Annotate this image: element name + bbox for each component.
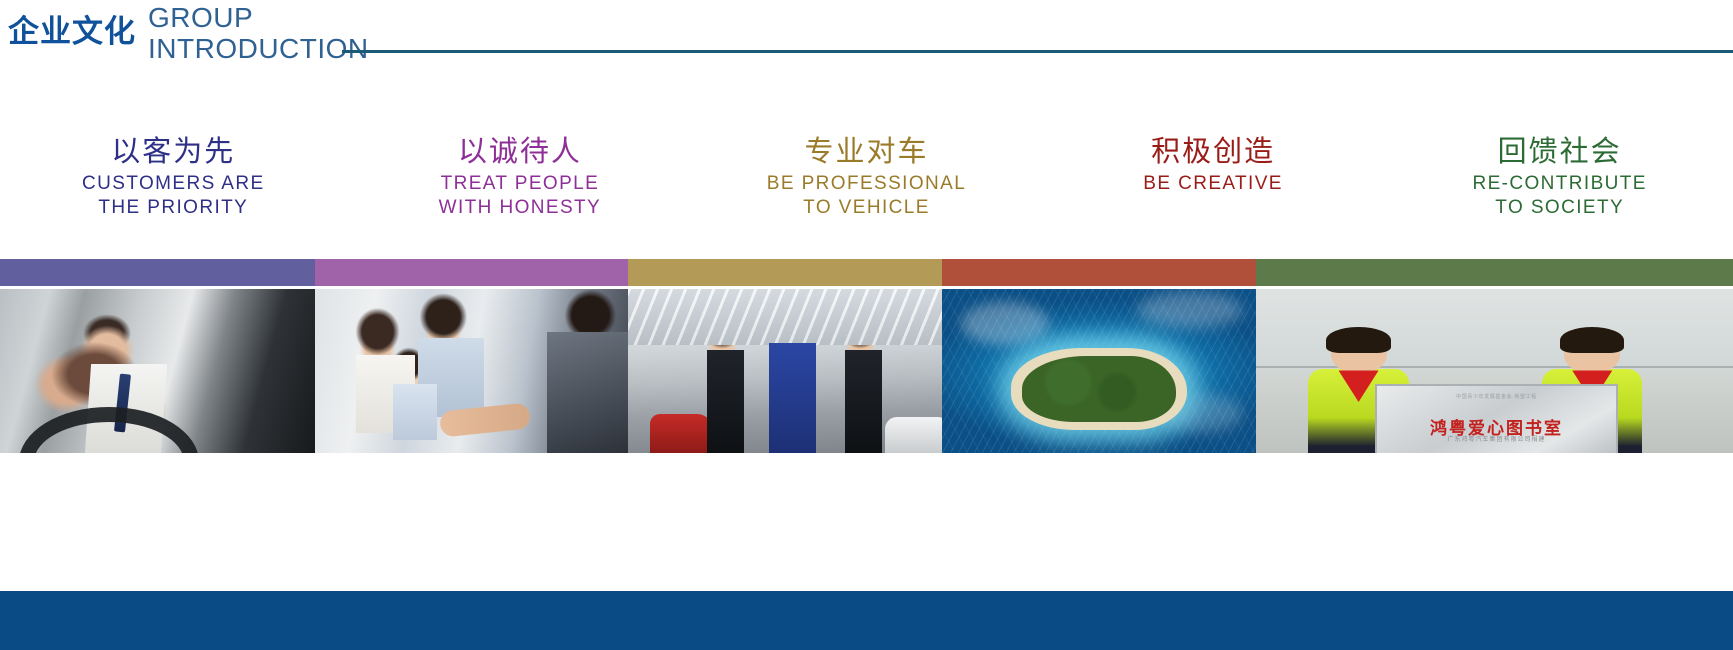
value-title-cn-5: 回馈社会: [1392, 132, 1727, 170]
value-title-cn-4: 积极创造: [1046, 132, 1381, 170]
color-bar-3: [628, 259, 942, 286]
value-subtitle-en-2-line1: TREAT PEOPLE: [353, 172, 688, 196]
value-subtitle-en-5-line2: TO SOCIETY: [1392, 196, 1727, 220]
photo-3-scene: [628, 289, 942, 453]
value-subtitle-en-2-line2: WITH HONESTY: [353, 196, 688, 220]
photo-4-cloud-top-left: [961, 302, 1049, 345]
photo-5-student-left-hair: [1326, 327, 1390, 354]
photo-couple-in-car: [0, 289, 315, 453]
photo-5-student-right-hair: [1560, 327, 1624, 354]
photo-3-technician-uniform: [769, 343, 816, 453]
page-title-en: GROUP INTRODUCTION: [148, 2, 369, 64]
photo-3-white-car: [885, 417, 942, 453]
color-bar-1: [0, 259, 315, 286]
value-title-cn-1: 以客为先: [6, 132, 341, 170]
value-column-text-5: 回馈社会 RE-CONTRIBUTE TO SOCIETY: [1386, 132, 1733, 252]
photo-dealership-staff: [628, 289, 942, 453]
value-photo-strip: 中国青少年发展基金会·希望工程 鸿粤爱心图书室 广东鸿粤汽车集团有限公司捐建: [0, 289, 1733, 453]
value-subtitle-en-1-line1: CUSTOMERS ARE: [6, 172, 341, 196]
photo-5-plaque-top-text: 中国青少年发展基金会·希望工程: [1387, 393, 1606, 400]
photo-2-child-shirt: [393, 384, 437, 440]
color-bar-2: [315, 259, 628, 286]
value-subtitle-en-4-line1: BE CREATIVE: [1046, 172, 1381, 196]
value-subtitle-en-5-line1: RE-CONTRIBUTE: [1392, 172, 1727, 196]
color-bar-4: [942, 259, 1256, 286]
page-header: 企业文化 GROUP INTRODUCTION: [0, 0, 1733, 70]
value-columns-text: 以客为先 CUSTOMERS ARE THE PRIORITY 以诚待人 TRE…: [0, 132, 1733, 252]
page-title-cn: 企业文化: [8, 17, 136, 48]
photo-2-scene: [315, 289, 628, 453]
value-title-cn-2: 以诚待人: [353, 132, 688, 170]
value-color-bars: [0, 259, 1733, 286]
photo-5-plaque-sub-text: 广东鸿粤汽车集团有限公司捐建: [1392, 434, 1602, 443]
value-column-text-4: 积极创造 BE CREATIVE: [1040, 132, 1387, 252]
photo-3-staff-right-suit: [845, 350, 883, 453]
value-subtitle-en-1-line2: THE PRIORITY: [6, 196, 341, 220]
value-subtitle-en-3-line2: TO VEHICLE: [699, 196, 1034, 220]
header-divider-rule: [342, 50, 1733, 53]
photo-students-with-plaque: 中国青少年发展基金会·希望工程 鸿粤爱心图书室 广东鸿粤汽车集团有限公司捐建: [1256, 289, 1733, 453]
value-subtitle-en-3-line1: BE PROFESSIONAL: [699, 172, 1034, 196]
photo-3-glass-roof: [628, 289, 942, 345]
page-title-en-line2: INTRODUCTION: [148, 33, 369, 64]
value-title-cn-3: 专业对车: [699, 132, 1034, 170]
page-title-en-line1: GROUP: [148, 2, 253, 33]
photo-1-steering-wheel: [19, 407, 199, 453]
photo-4-island-forest: [1022, 356, 1176, 422]
photo-family-handshake: [315, 289, 628, 453]
photo-2-salesman-suit: [547, 332, 628, 453]
photo-car-shaped-island: [942, 289, 1256, 453]
value-column-text-3: 专业对车 BE PROFESSIONAL TO VEHICLE: [693, 132, 1040, 252]
value-column-text-1: 以客为先 CUSTOMERS ARE THE PRIORITY: [0, 132, 347, 252]
color-bar-5: [1256, 259, 1733, 286]
photo-5-scene: 中国青少年发展基金会·希望工程 鸿粤爱心图书室 广东鸿粤汽车集团有限公司捐建: [1256, 289, 1733, 453]
photo-1-scene: [0, 289, 315, 453]
photo-5-donation-plaque: 中国青少年发展基金会·希望工程 鸿粤爱心图书室 广东鸿粤汽车集团有限公司捐建: [1375, 384, 1618, 453]
value-column-text-2: 以诚待人 TREAT PEOPLE WITH HONESTY: [347, 132, 694, 252]
photo-3-staff-left-suit: [707, 350, 745, 453]
footer-band: [0, 591, 1733, 650]
photo-3-red-car: [650, 414, 713, 453]
photo-4-scene: [942, 289, 1256, 453]
